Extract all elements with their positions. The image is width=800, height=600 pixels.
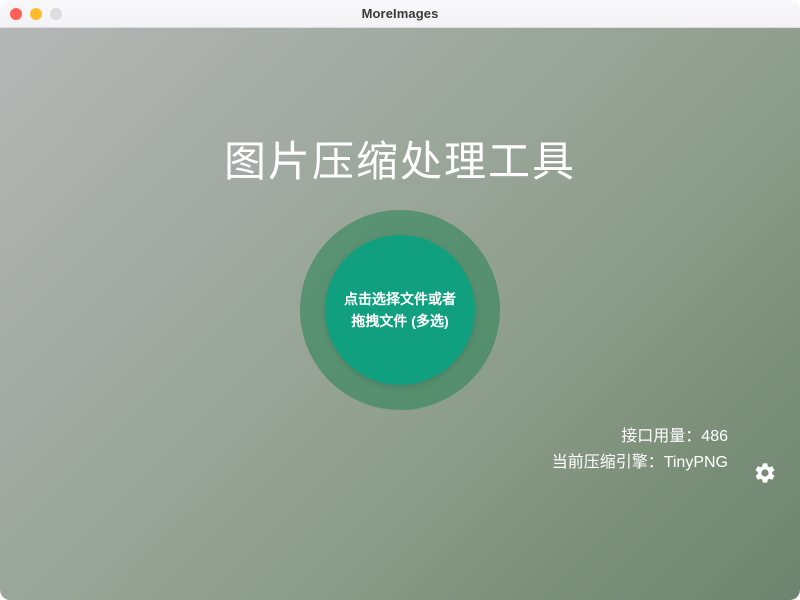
traffic-light-group [10, 0, 62, 28]
minimize-window-button[interactable] [30, 8, 42, 20]
page-title: 图片压缩处理工具 [0, 128, 800, 189]
file-drop-zone-ring[interactable]: 点击选择文件或者拖拽文件 (多选) [300, 210, 500, 410]
gear-icon [753, 461, 777, 485]
main-content: 图片压缩处理工具 点击选择文件或者拖拽文件 (多选) 接口用量：486 当前压缩… [0, 28, 800, 600]
status-info: 接口用量：486 当前压缩引擎：TinyPNG [552, 424, 728, 476]
file-drop-zone-label: 点击选择文件或者拖拽文件 (多选) [344, 288, 456, 332]
compression-engine-text: 当前压缩引擎：TinyPNG [552, 450, 728, 476]
app-window: MoreImages 图片压缩处理工具 点击选择文件或者拖拽文件 (多选) 接口… [0, 0, 800, 600]
settings-button[interactable] [752, 460, 778, 486]
zoom-window-button[interactable] [50, 8, 62, 20]
close-window-button[interactable] [10, 8, 22, 20]
window-title: MoreImages [0, 0, 800, 28]
window-titlebar: MoreImages [0, 0, 800, 28]
api-usage-text: 接口用量：486 [552, 424, 728, 450]
file-drop-zone-button[interactable]: 点击选择文件或者拖拽文件 (多选) [325, 235, 475, 385]
